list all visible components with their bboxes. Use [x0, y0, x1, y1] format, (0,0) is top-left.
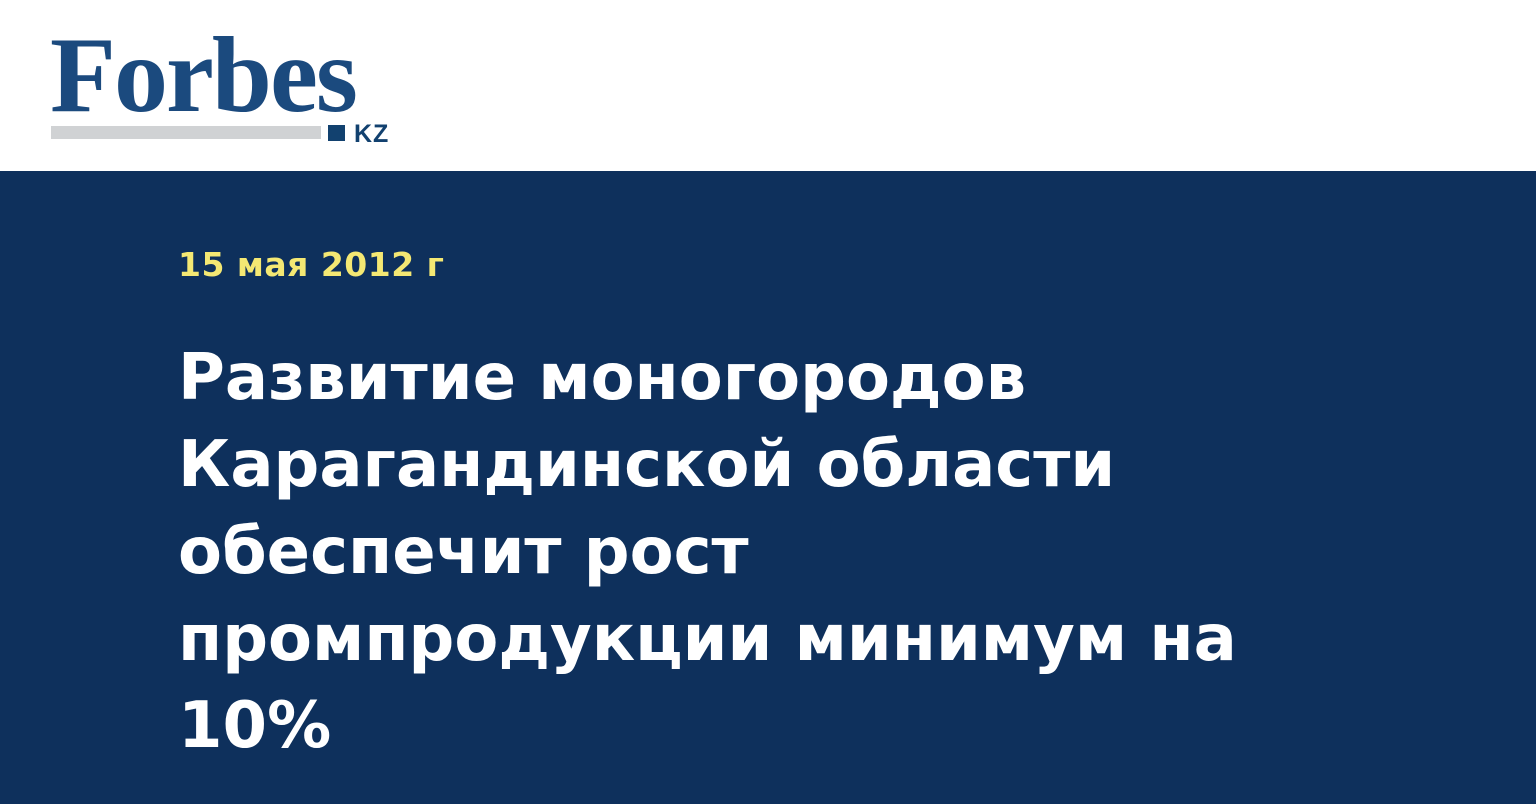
forbes-wordmark: Forbes: [50, 22, 356, 130]
article-hero-content: 15 мая 2012 г Развитие моногородов Караг…: [178, 171, 1308, 770]
square-icon: [328, 125, 345, 141]
logo-rule-icon: [51, 126, 321, 139]
article-hero-page: Forbes KZ 15 мая 2012 г Развитие моногор…: [0, 0, 1536, 804]
article-title: Развитие моногородов Карагандинской обла…: [178, 285, 1288, 770]
article-date: 15 мая 2012 г: [178, 171, 1308, 285]
site-masthead: Forbes KZ: [0, 0, 1536, 171]
forbes-kz-logo[interactable]: Forbes KZ: [50, 22, 410, 142]
article-hero-band: 15 мая 2012 г Развитие моногородов Караг…: [0, 171, 1536, 804]
logo-kz-suffix: KZ: [354, 122, 389, 147]
